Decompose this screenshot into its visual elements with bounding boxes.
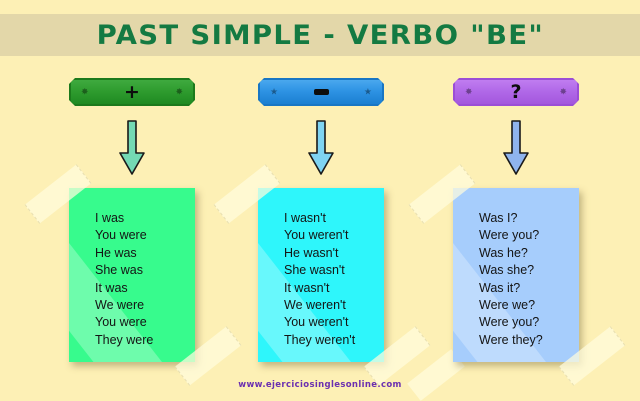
list-item: They were bbox=[95, 332, 195, 349]
list-item: You weren't bbox=[284, 314, 384, 331]
list-item: We were bbox=[95, 297, 195, 314]
list-item: I was bbox=[95, 210, 195, 227]
verb-list-affirmative: I was You were He was She was It was We … bbox=[69, 188, 195, 349]
star-icon-left: ✸ bbox=[81, 88, 89, 97]
list-item: Was she? bbox=[479, 262, 579, 279]
list-item: Was it? bbox=[479, 280, 579, 297]
ribbon-header-affirmative: ✸ + ✸ bbox=[69, 78, 195, 106]
star-icon-right: ★ bbox=[364, 88, 372, 97]
list-item: We weren't bbox=[284, 297, 384, 314]
column-interrogative: ✸ ? ✸ Was I? Were you? Was he? Was she? … bbox=[423, 78, 609, 364]
list-item: It was bbox=[95, 280, 195, 297]
question-mark-icon: ? bbox=[510, 83, 521, 102]
column-negative: ★ ★ I wasn't You weren't He wasn't She w… bbox=[228, 78, 414, 364]
down-arrow-icon-negative bbox=[308, 120, 334, 176]
star-icon-right: ✸ bbox=[559, 88, 567, 97]
down-arrow-icon-interrogative bbox=[503, 120, 529, 176]
footer: www.ejerciciosinglesonline.com bbox=[0, 374, 640, 392]
card-wrap-affirmative: I was You were He was She was It was We … bbox=[39, 188, 225, 364]
verb-list-interrogative: Was I? Were you? Was he? Was she? Was it… bbox=[453, 188, 579, 349]
list-item: You weren't bbox=[284, 227, 384, 244]
list-item: She was bbox=[95, 262, 195, 279]
card-wrap-interrogative: Was I? Were you? Was he? Was she? Was it… bbox=[423, 188, 609, 364]
list-item: Were you? bbox=[479, 314, 579, 331]
down-arrow-icon-affirmative bbox=[119, 120, 145, 176]
list-item: You were bbox=[95, 314, 195, 331]
star-icon-right: ✸ bbox=[175, 88, 183, 97]
card-negative: I wasn't You weren't He wasn't She wasn'… bbox=[258, 188, 384, 362]
card-interrogative: Was I? Were you? Was he? Was she? Was it… bbox=[453, 188, 579, 362]
list-item: Were we? bbox=[479, 297, 579, 314]
column-affirmative: ✸ + ✸ I was You were He was She was It w… bbox=[39, 78, 225, 364]
plus-icon: + bbox=[124, 83, 140, 102]
list-item: Was I? bbox=[479, 210, 579, 227]
page-title: PAST SIMPLE - VERBO "BE" bbox=[96, 20, 543, 51]
card-wrap-negative: I wasn't You weren't He wasn't She wasn'… bbox=[228, 188, 414, 364]
list-item: She wasn't bbox=[284, 262, 384, 279]
card-affirmative: I was You were He was She was It was We … bbox=[69, 188, 195, 362]
list-item: You were bbox=[95, 227, 195, 244]
ribbon-header-interrogative: ✸ ? ✸ bbox=[453, 78, 579, 106]
poster-canvas: PAST SIMPLE - VERBO "BE" ✸ + ✸ I was You… bbox=[0, 0, 640, 400]
minus-icon bbox=[314, 89, 329, 95]
list-item: Were they? bbox=[479, 332, 579, 349]
verb-list-negative: I wasn't You weren't He wasn't She wasn'… bbox=[258, 188, 384, 349]
website-url[interactable]: www.ejerciciosinglesonline.com bbox=[238, 380, 401, 390]
list-item: It wasn't bbox=[284, 280, 384, 297]
title-banner: PAST SIMPLE - VERBO "BE" bbox=[0, 14, 640, 56]
ribbon-header-negative: ★ ★ bbox=[258, 78, 384, 106]
list-item: I wasn't bbox=[284, 210, 384, 227]
list-item: Were you? bbox=[479, 227, 579, 244]
list-item: They weren't bbox=[284, 332, 384, 349]
list-item: He was bbox=[95, 245, 195, 262]
star-icon-left: ★ bbox=[270, 88, 278, 97]
list-item: He wasn't bbox=[284, 245, 384, 262]
star-icon-left: ✸ bbox=[465, 88, 473, 97]
list-item: Was he? bbox=[479, 245, 579, 262]
